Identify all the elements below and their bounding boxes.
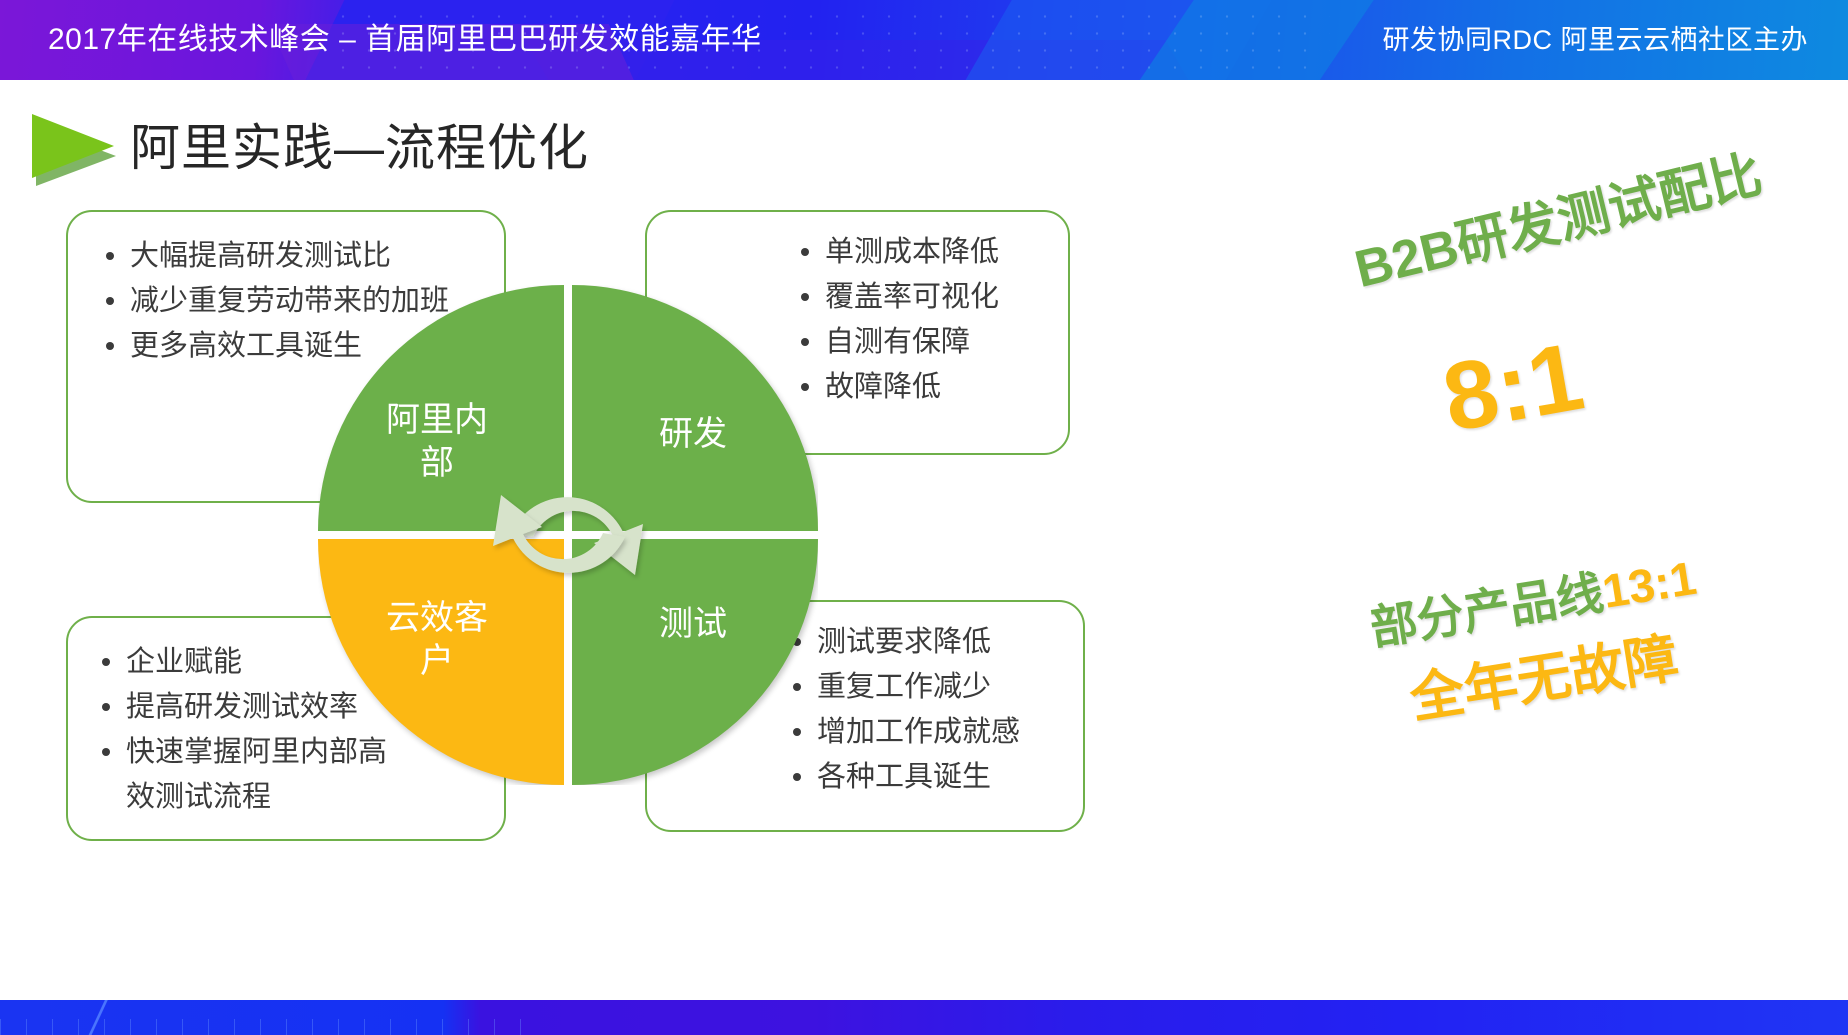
callout-product-line-value: 13:1 xyxy=(1599,551,1700,618)
quadrant-cycle-diagram: 阿里内 部 研发 云效客 户 测试 xyxy=(318,285,818,785)
list-item: 大幅提高研发测试比 xyxy=(100,234,504,279)
list-item: 各种工具诞生 xyxy=(787,755,1083,800)
quadrant-label-top-left: 阿里内 部 xyxy=(342,399,532,484)
page-title: 阿里实践—流程优化 xyxy=(130,108,589,180)
list-item: 单测成本降低 xyxy=(795,230,1068,275)
list-item: 自测有保障 xyxy=(795,320,1068,365)
header-event-title: 2017年在线技术峰会 – 首届阿里巴巴研发效能嘉年华 xyxy=(48,0,762,80)
callout-ratio-value: 8:1 xyxy=(1435,322,1591,454)
quadrant-top-right xyxy=(572,285,818,531)
list-item: 故障降低 xyxy=(795,365,1068,410)
list-item: 重复工作减少 xyxy=(787,665,1083,710)
slide-footer xyxy=(0,1000,1848,1035)
quadrant-label-top-right: 研发 xyxy=(598,413,788,456)
quadrant-top-right-fill xyxy=(572,285,818,531)
quadrant-label-bottom-right: 测试 xyxy=(598,603,788,646)
header-organizer: 研发协同RDC 阿里云云栖社区主办 xyxy=(1383,0,1809,80)
slide-root: 2017年在线技术峰会 – 首届阿里巴巴研发效能嘉年华 研发协同RDC 阿里云云… xyxy=(0,0,1848,1035)
quadrant-label-bottom-left: 云效客 户 xyxy=(342,597,532,682)
quadrant-bottom-right xyxy=(572,539,818,785)
quadrant-bottom-right-fill xyxy=(572,539,818,785)
slide-header: 2017年在线技术峰会 – 首届阿里巴巴研发效能嘉年华 研发协同RDC 阿里云云… xyxy=(0,0,1848,80)
callout-ratio-label: B2B研发测试配比 xyxy=(1346,132,1768,302)
play-triangle-icon xyxy=(26,108,122,184)
list-item: 测试要求降低 xyxy=(787,620,1083,665)
list-item: 覆盖率可视化 xyxy=(795,275,1068,320)
play-triangle-main xyxy=(32,114,114,178)
list-item: 增加工作成就感 xyxy=(787,710,1083,755)
